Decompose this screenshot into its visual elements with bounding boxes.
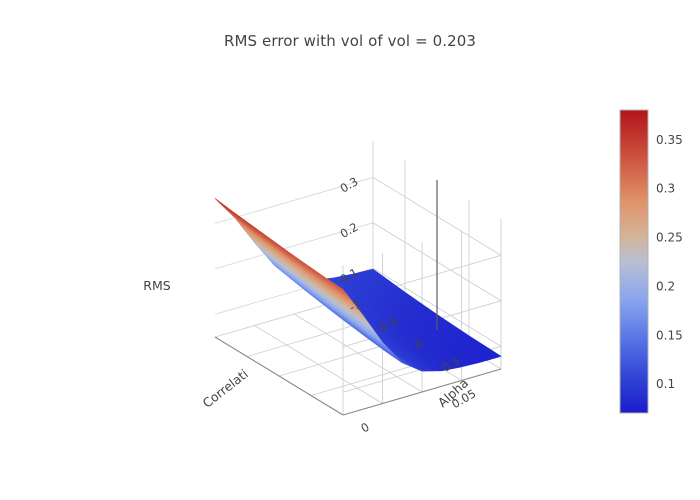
plot-canvas: 0.10.20.3-1-0.500.50.050 RMSCorrelatiAlp… xyxy=(0,0,700,500)
surface-plot-figure: RMS error with vol of vol = 0.203 0.10.2… xyxy=(0,0,700,500)
floor-gridline-y xyxy=(255,326,383,404)
surface-mesh xyxy=(215,198,501,371)
page-title: RMS error with vol of vol = 0.203 xyxy=(0,32,700,50)
